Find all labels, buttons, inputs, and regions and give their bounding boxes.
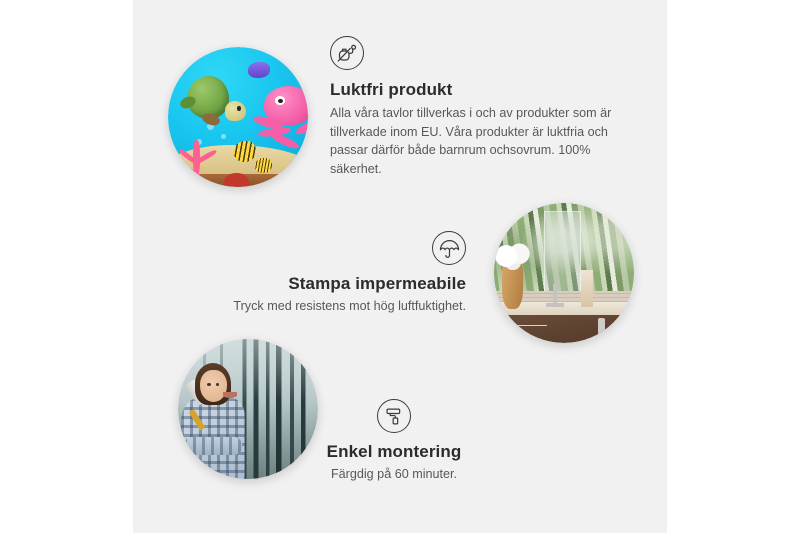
feature-easy-mounting-icon-wrap [298,399,490,433]
feature-odourless: Luktfri produkt Alla våra tavlor tillver… [330,36,630,178]
feature-odourless-title: Luktfri produkt [330,80,630,100]
underwater-cartoon-photo [168,47,308,187]
white-flowers-shape [495,242,531,270]
purple-fish-shape [248,62,270,77]
crab-shape [224,173,249,187]
yellow-fish-shape [234,141,256,162]
screenshot-stage: Luktfri produkt Alla våra tavlor tillver… [0,0,800,533]
feature-easy-mounting: Enkel montering Färgdig på 60 minuter. [298,399,490,484]
feature-odourless-icon-wrap [330,36,630,70]
smile-shape [223,392,237,398]
bottle-shape [581,270,594,306]
feature-waterproof-icon-wrap [180,231,466,265]
mirror-shape [544,211,580,292]
coral-shape [174,137,222,176]
feature-odourless-description: Alla våra tavlor tillverkas i och av pro… [330,104,622,178]
octopus-shape [252,86,308,153]
painter-forest-photo [178,339,318,479]
feature-waterproof: Stampa impermeabile Tryck med resistens … [180,231,466,316]
face-shape [200,370,227,402]
feature-waterproof-description: Tryck med resistens mot hög luftfuktighe… [180,297,466,316]
bubble-icon [221,134,226,139]
feature-easy-mounting-title: Enkel montering [298,442,490,462]
faucet-shape [553,284,557,306]
no-fragrance-icon [330,36,364,70]
folded-arms-shape [184,437,243,455]
feature-waterproof-title: Stampa impermeabile [180,274,466,294]
sea-turtle-shape [183,75,245,131]
yellow-fish-shape [255,158,272,173]
umbrella-icon [432,231,466,265]
paint-roller-icon [377,399,411,433]
feature-easy-mounting-description: Färgdig på 60 minuter. [298,465,490,484]
wooden-vanity [494,315,634,343]
bathroom-leaf-wallpaper-photo [494,203,634,343]
